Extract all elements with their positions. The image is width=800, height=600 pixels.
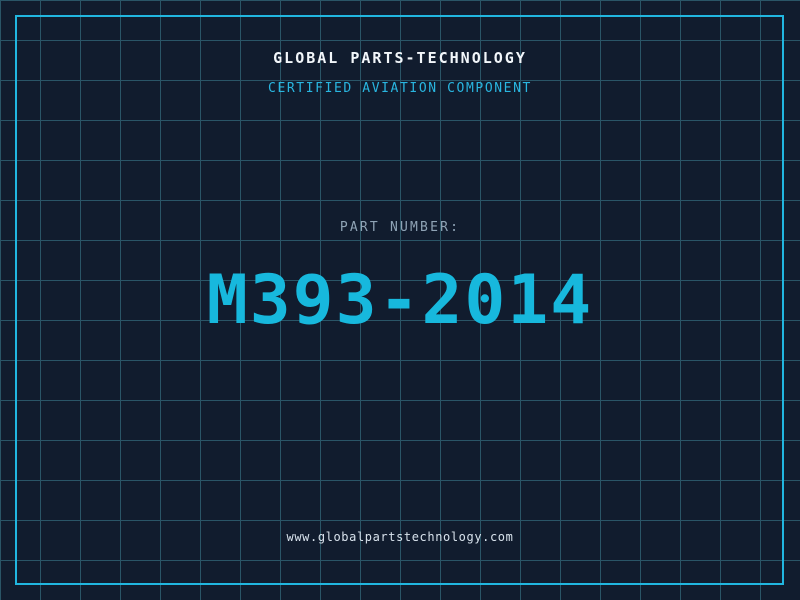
company-name: GLOBAL PARTS-TECHNOLOGY [0,48,800,68]
part-number-value: M393-2014 [0,265,800,337]
part-number-label: PART NUMBER: [0,219,800,237]
certification-subtitle: CERTIFIED AVIATION COMPONENT [0,80,800,98]
blueprint-part-card: GLOBAL PARTS-TECHNOLOGY CERTIFIED AVIATI… [0,0,800,600]
website-url: www.globalpartstechnology.com [0,529,800,546]
